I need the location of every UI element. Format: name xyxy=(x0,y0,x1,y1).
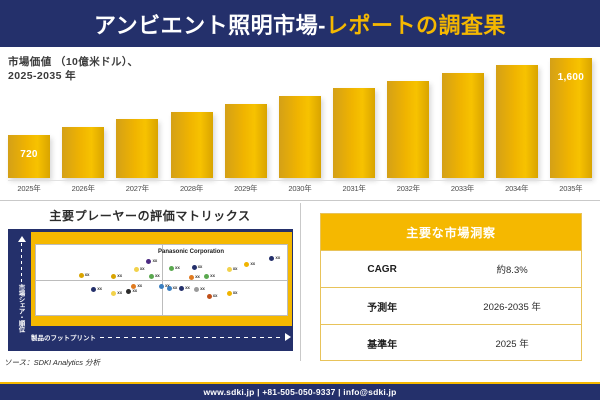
matrix-data-point xyxy=(146,259,151,264)
competitive-matrix-panel: 主要プレーヤーの評価マトリックス 市場シェア・順位 新興のリーダー スター 参加… xyxy=(0,201,300,383)
matrix-y-axis-label: 市場シェア・順位 xyxy=(15,284,25,332)
insight-key: CAGR xyxy=(321,264,443,275)
matrix-data-point xyxy=(134,267,139,272)
bar-column: 1,600 xyxy=(550,58,592,178)
matrix-data-point-label: xx xyxy=(200,286,205,291)
bar xyxy=(225,104,267,178)
insight-value: 約8.3% xyxy=(443,262,581,276)
bar xyxy=(387,81,429,178)
matrix-frame: 市場シェア・順位 新興のリーダー スター 参加者 普及プレーヤー Panason… xyxy=(8,229,293,351)
matrix-data-point xyxy=(79,273,84,278)
matrix-data-point xyxy=(126,289,131,294)
x-axis-tick-label: 2031年 xyxy=(333,183,375,196)
key-insights-table: 主要な市場洞察 CAGR約8.3%予測年2026-2035 年基準年2025 年 xyxy=(320,213,582,361)
bar-column xyxy=(116,58,158,178)
x-axis-tick-label: 2026年 xyxy=(62,183,104,196)
matrix-data-point-label: xx xyxy=(233,290,238,295)
matrix-data-point xyxy=(111,274,116,279)
insight-value: 2025 年 xyxy=(443,336,581,350)
matrix-data-point xyxy=(167,286,172,291)
matrix-x-axis-label: 製品のフットプリント xyxy=(31,332,96,342)
page-title-main: アンビエント照明市場- xyxy=(94,13,326,38)
matrix-data-point-label: xx xyxy=(137,283,142,288)
matrix-data-point-label: xx xyxy=(213,293,218,298)
insight-key: 基準年 xyxy=(321,336,443,351)
x-axis-tick-label: 2030年 xyxy=(279,183,321,196)
y-axis-dashed-line xyxy=(21,243,22,285)
matrix-data-point-label: xx xyxy=(155,273,160,278)
matrix-data-point-label: xx xyxy=(185,285,190,290)
matrix-data-point-label: xx xyxy=(250,261,255,266)
bar-series: 7201,600 xyxy=(8,58,592,178)
matrix-data-point-label: xx xyxy=(173,285,178,290)
matrix-data-point-label: xx xyxy=(233,266,238,271)
matrix-data-point xyxy=(227,291,232,296)
matrix-data-point xyxy=(179,286,184,291)
matrix-quadrant-band: 新興のリーダー スター 参加者 普及プレーヤー Panasonic Corpor… xyxy=(31,232,292,326)
key-insights-panel: 主要な市場洞察 CAGR約8.3%予測年2026-2035 年基準年2025 年 xyxy=(300,201,600,383)
bar-column xyxy=(225,58,267,178)
x-axis-tick-label: 2029年 xyxy=(225,183,267,196)
insight-value: 2026-2035 年 xyxy=(443,299,581,313)
bar-column xyxy=(387,58,429,178)
bar-column xyxy=(333,58,375,178)
matrix-data-point-label: xx xyxy=(152,258,157,263)
x-axis-tick-label: 2027年 xyxy=(116,183,158,196)
bar-column xyxy=(442,58,484,178)
bar xyxy=(279,96,321,178)
footer-contact-text: www.sdki.jp | +81-505-050-9337 | info@sd… xyxy=(204,387,397,397)
bar xyxy=(171,112,213,178)
matrix-data-point xyxy=(194,287,199,292)
bar-column xyxy=(62,58,104,178)
insight-key: 予測年 xyxy=(321,299,443,314)
matrix-data-point-label: xx xyxy=(175,265,180,270)
bar-column xyxy=(496,58,538,178)
bar xyxy=(496,65,538,178)
bar-value-label: 720 xyxy=(8,149,50,160)
quadrant-horizontal-divider xyxy=(36,280,287,281)
source-note: ソース：SDKI Analytics 分析 xyxy=(4,357,100,368)
matrix-data-point xyxy=(91,287,96,292)
bar xyxy=(442,73,484,178)
page-title-accent: レポートの調査果 xyxy=(326,13,506,38)
matrix-data-point-label: xx xyxy=(195,274,200,279)
matrix-x-axis: 製品のフットプリント xyxy=(31,327,291,347)
page-footer: www.sdki.jp | +81-505-050-9337 | info@sd… xyxy=(0,382,600,400)
matrix-scatter-plot: Panasonic Corporation xxxxxxxxxxxxxxxxxx… xyxy=(35,244,288,316)
lower-section: 主要プレーヤーの評価マトリックス 市場シェア・順位 新興のリーダー スター 参加… xyxy=(0,200,600,382)
matrix-data-point xyxy=(269,256,274,261)
page-title: アンビエント照明市場-レポートの調査果 xyxy=(94,8,506,40)
market-value-bar-chart: 市場価値 （10億米ドル）、 2025-2035 年 7201,600 2025… xyxy=(0,47,600,200)
matrix-data-point xyxy=(244,262,249,267)
highlight-company-label: Panasonic Corporation xyxy=(158,249,224,255)
table-row: 基準年2025 年 xyxy=(321,324,581,361)
matrix-y-axis: 市場シェア・順位 xyxy=(11,232,31,350)
matrix-data-point xyxy=(192,265,197,270)
matrix-data-point-label: xx xyxy=(210,273,215,278)
arrow-right-icon xyxy=(285,333,291,341)
x-axis-tick-label: 2035年 xyxy=(550,183,592,196)
bar-value-label: 1,600 xyxy=(550,72,592,83)
x-axis-tick-label: 2033年 xyxy=(442,183,484,196)
x-axis-dashed-line xyxy=(100,337,284,338)
matrix-data-point-label: xx xyxy=(117,290,122,295)
x-axis-tick-label: 2032年 xyxy=(387,183,429,196)
key-insights-rows: CAGR約8.3%予測年2026-2035 年基準年2025 年 xyxy=(321,250,581,361)
matrix-data-point-label: xx xyxy=(132,288,137,293)
page-header: アンビエント照明市場-レポートの調査果 xyxy=(0,0,600,47)
key-insights-header: 主要な市場洞察 xyxy=(321,214,581,250)
matrix-data-point xyxy=(159,284,164,289)
matrix-data-point xyxy=(149,274,154,279)
x-axis-tick-label: 2034年 xyxy=(496,183,538,196)
matrix-data-point xyxy=(169,266,174,271)
bar-column xyxy=(171,58,213,178)
x-axis-tick-label: 2025年 xyxy=(8,183,50,196)
bar xyxy=(333,88,375,178)
bar-column: 720 xyxy=(8,58,50,178)
bar-column xyxy=(279,58,321,178)
bar: 1,600 xyxy=(550,58,592,178)
bar xyxy=(62,127,104,178)
matrix-data-point-label: xx xyxy=(198,264,203,269)
matrix-data-point-label: xx xyxy=(97,286,102,291)
matrix-title: 主要プレーヤーの評価マトリックス xyxy=(0,207,300,224)
bar xyxy=(116,119,158,178)
table-row: CAGR約8.3% xyxy=(321,250,581,287)
matrix-data-point xyxy=(111,291,116,296)
matrix-data-point-label: xx xyxy=(140,266,145,271)
matrix-data-point-label: xx xyxy=(85,272,90,277)
arrow-up-icon xyxy=(18,236,26,242)
x-axis-tick-labels: 2025年2026年2027年2028年2029年2030年2031年2032年… xyxy=(8,180,592,196)
matrix-data-point xyxy=(204,274,209,279)
matrix-data-point-label: xx xyxy=(275,255,280,260)
matrix-data-point-label: xx xyxy=(117,273,122,278)
table-row: 予測年2026-2035 年 xyxy=(321,287,581,324)
report-infographic-page: アンビエント照明市場-レポートの調査果 市場価値 （10億米ドル）、 2025-… xyxy=(0,0,600,400)
bar: 720 xyxy=(8,135,50,178)
matrix-data-point xyxy=(227,267,232,272)
matrix-data-point xyxy=(207,294,212,299)
x-axis-tick-label: 2028年 xyxy=(171,183,213,196)
